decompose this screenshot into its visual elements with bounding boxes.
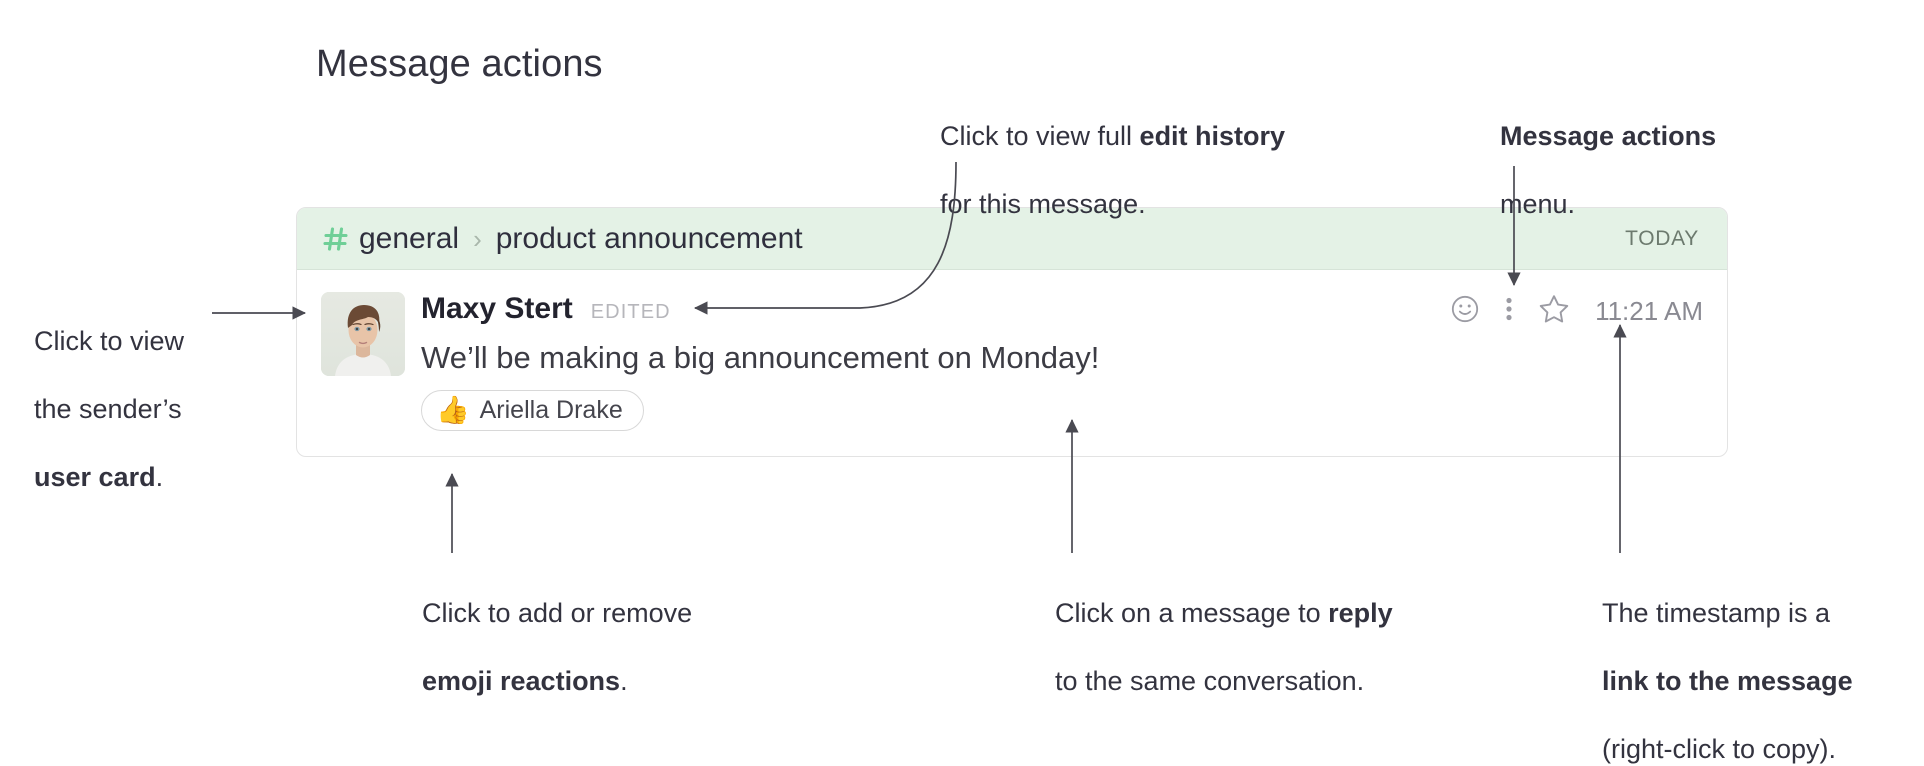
annotation-timestamp-line2-bold: link to the message <box>1602 666 1853 696</box>
sender-name[interactable]: Maxy Stert <box>421 292 573 326</box>
annotation-reply-line1-pre: Click on a message to <box>1055 598 1328 628</box>
annotation-reply-line1-bold: reply <box>1328 598 1393 628</box>
annotation-emoji-reactions: Click to add or remove emoji reactions. <box>422 562 692 698</box>
message-timestamp-link[interactable]: 11:21 AM <box>1595 296 1703 327</box>
breadcrumb-separator-icon: › <box>473 226 482 252</box>
card-body: Maxy Stert EDITED We’ll be making a big … <box>297 270 1727 431</box>
annotation-edit-history-line2: for this message. <box>940 189 1146 219</box>
annotation-edit-history-line1-bold: edit history <box>1140 121 1286 151</box>
annotation-emoji-line1: Click to add or remove <box>422 598 692 628</box>
annotation-user-card-line1: Click to view <box>34 326 184 356</box>
user-avatar-photo <box>321 292 405 376</box>
annotation-edit-history: Click to view full edit history for this… <box>940 85 1285 221</box>
three-dot-vertical-menu-icon[interactable] <box>1503 293 1515 330</box>
message-actions: 11:21 AM <box>1449 292 1703 331</box>
annotation-actions-menu-line2: menu. <box>1500 189 1575 219</box>
edited-tag[interactable]: EDITED <box>591 301 671 324</box>
annotation-timestamp-link: The timestamp is a link to the message (… <box>1602 562 1853 766</box>
annotation-actions-menu: Message actions menu. <box>1500 85 1716 221</box>
message-body-text[interactable]: We’ll be making a big announcement on Mo… <box>421 340 1703 376</box>
annotation-actions-menu-line1-bold: Message actions <box>1500 121 1716 151</box>
hash-icon <box>321 224 351 254</box>
breadcrumb-topic[interactable]: product announcement <box>496 222 803 256</box>
annotation-user-card: Click to view the sender’s user card. <box>34 290 184 494</box>
annotation-emoji-line2-post: . <box>620 666 628 696</box>
message-content: Maxy Stert EDITED We’ll be making a big … <box>405 292 1703 431</box>
date-label: TODAY <box>1625 227 1699 251</box>
page-title: Message actions <box>316 43 603 86</box>
annotation-timestamp-line1: The timestamp is a <box>1602 598 1830 628</box>
annotation-emoji-line2-bold: emoji reactions <box>422 666 620 696</box>
smiley-face-icon[interactable] <box>1449 293 1481 330</box>
annotation-reply: Click on a message to reply to the same … <box>1055 562 1393 698</box>
annotation-user-card-line2: the sender’s <box>34 394 182 424</box>
reaction-user-name: Ariella Drake <box>480 396 623 425</box>
annotation-user-card-line3-post: . <box>156 462 164 492</box>
avatar[interactable] <box>321 292 405 376</box>
annotation-user-card-line3-bold: user card <box>34 462 156 492</box>
thumbs-up-emoji: 👍 <box>436 397 470 424</box>
annotation-reply-line2: to the same conversation. <box>1055 666 1364 696</box>
reaction-row: 👍 Ariella Drake <box>421 390 1703 431</box>
star-outline-icon[interactable] <box>1537 292 1571 331</box>
message-card: general › product announcement TODAY <box>296 207 1728 457</box>
annotation-timestamp-line3: (right-click to copy). <box>1602 734 1836 764</box>
reaction-pill[interactable]: 👍 Ariella Drake <box>421 390 644 431</box>
breadcrumb-channel[interactable]: general <box>359 222 459 256</box>
annotation-edit-history-line1-pre: Click to view full <box>940 121 1140 151</box>
